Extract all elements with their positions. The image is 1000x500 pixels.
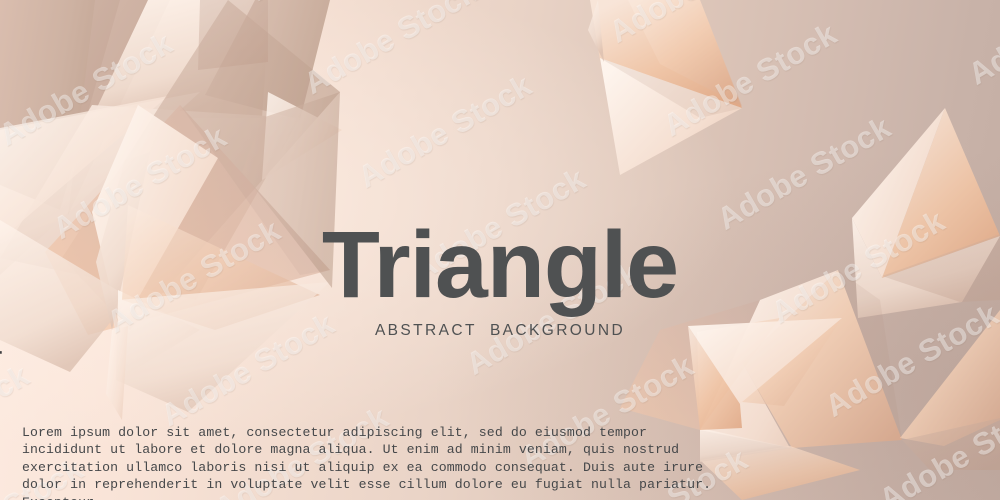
asset-id-label: Adobe Stock | #264385986 [0, 225, 3, 493]
poly-left-15 [116, 282, 330, 412]
poly-left-17 [198, 0, 268, 70]
stock-image-preview: Adobe StockAdobe StockAdobe StockAdobe S… [0, 0, 1000, 500]
poly-left-16 [106, 326, 128, 420]
body-paragraph: Lorem ipsum dolor sit amet, consectetur … [22, 424, 722, 500]
asset-id-strip: Adobe Stock | #264385986 [0, 0, 38, 500]
